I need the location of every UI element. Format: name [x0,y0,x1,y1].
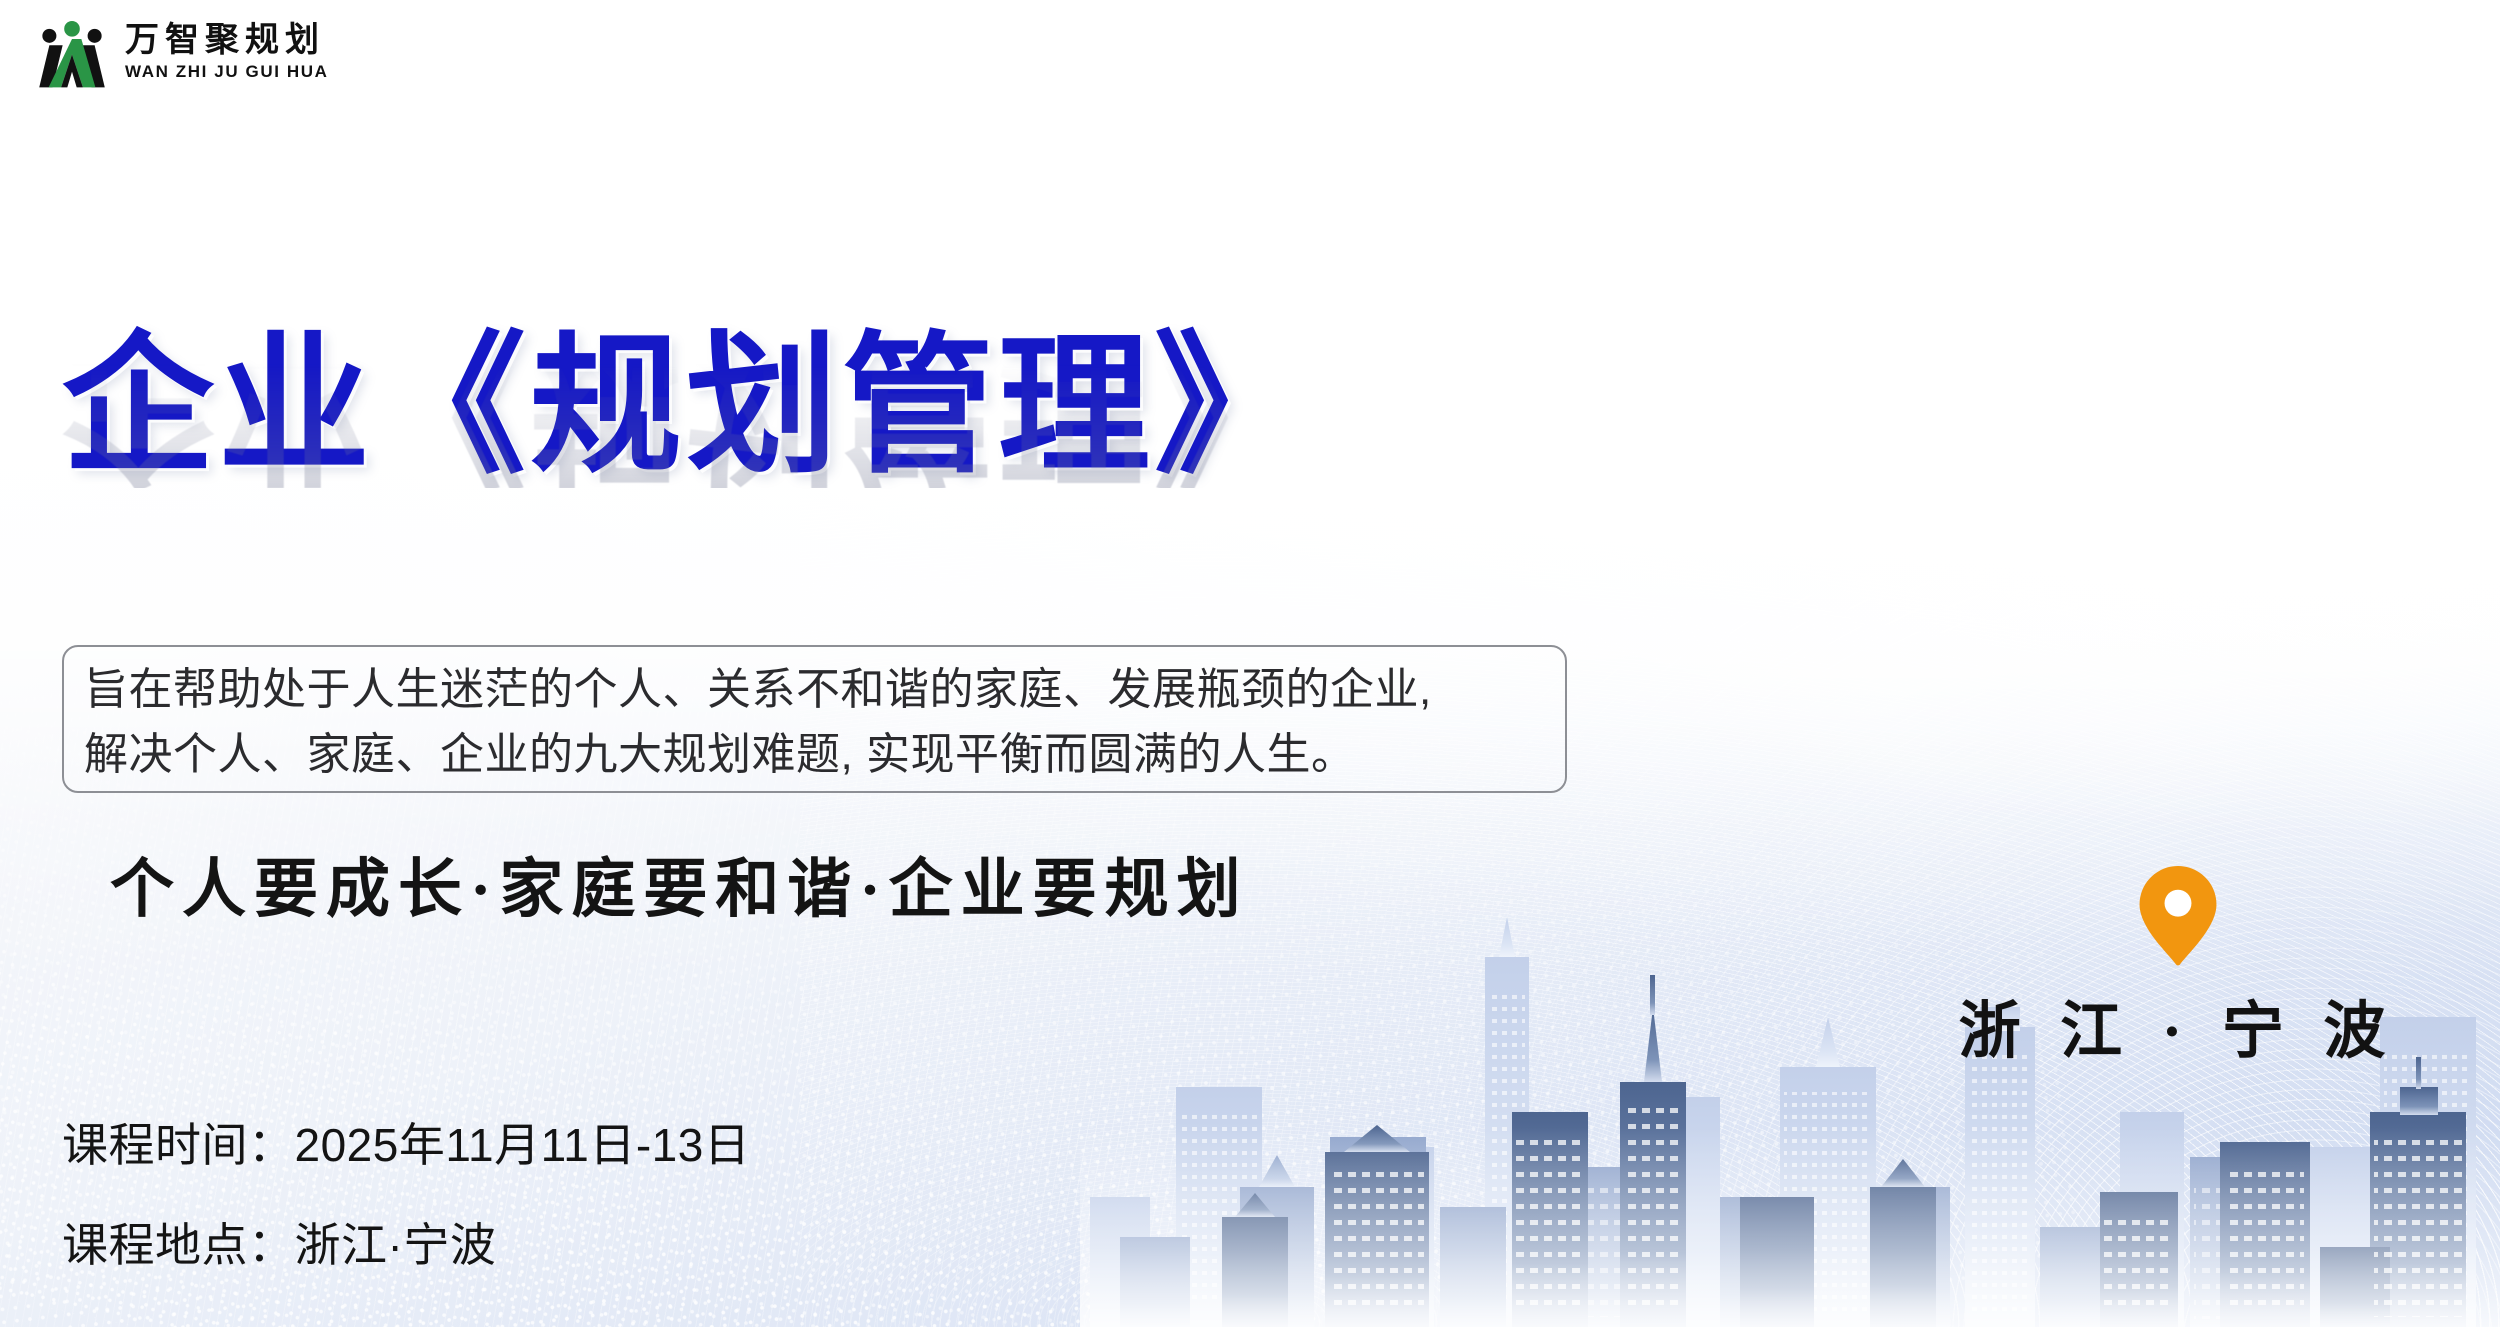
course-time: 课程时间：2025年11月11日-13日 [62,1122,750,1168]
brand-name-en: WAN ZHI JU GUI HUA [125,62,329,82]
hero-title-block: 企业《规划管理》 企业《规划管理》 [62,330,1622,660]
brand-logo[interactable]: 万智聚规划 WAN ZHI JU GUI HUA [33,14,329,92]
map-pin-icon [2139,866,2217,966]
three-people-logo-icon [33,14,111,92]
tagline: 个人要成长·家庭要和谐·企业要规划 [110,838,1249,930]
location-group: 浙 江 · 宁 波 [1918,866,2438,1070]
page-title-reflection: 企业《规划管理》 [62,336,1622,488]
location-label: 浙 江 · 宁 波 [1918,980,2438,1070]
description-line-2: 解决个人、家庭、企业的九大规划难题, 实现平衡而圆满的人生。 [84,722,1545,787]
poster-canvas: 万智聚规划 WAN ZHI JU GUI HUA 企业《规划管理》 企业《规划管… [0,0,2500,1327]
course-info: 课程时间：2025年11月11日-13日 课程地点：浙江·宁波 [62,1122,750,1268]
description-box: 旨在帮助处于人生迷茫的个人、关系不和谐的家庭、发展瓶颈的企业, 解决个人、家庭、… [62,645,1567,793]
course-place: 课程地点：浙江·宁波 [62,1222,750,1268]
brand-name-cn: 万智聚规划 [125,23,329,59]
description-line-1: 旨在帮助处于人生迷茫的个人、关系不和谐的家庭、发展瓶颈的企业, [84,657,1545,722]
